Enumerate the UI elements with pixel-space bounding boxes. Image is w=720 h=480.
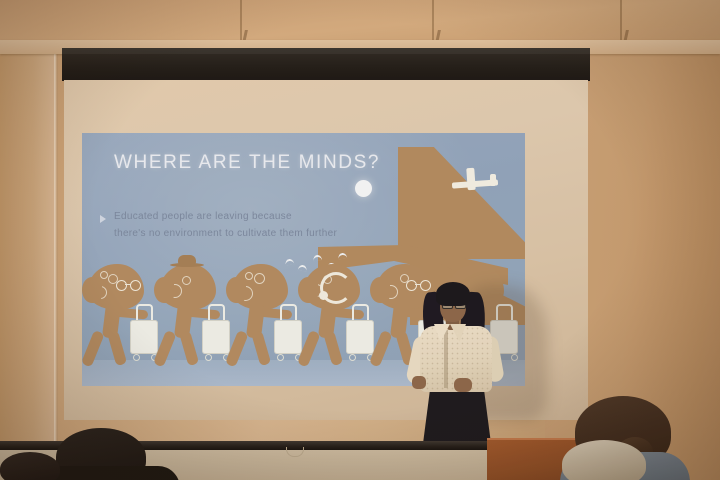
figure-leg xyxy=(323,330,343,366)
wall-corner-seam xyxy=(54,0,58,480)
valance-highlight xyxy=(62,48,590,54)
brain-detail xyxy=(254,273,265,284)
brain-figure xyxy=(304,264,380,368)
plane-wing xyxy=(466,168,476,191)
rolling-suitcase xyxy=(274,320,302,354)
lens-right xyxy=(130,280,141,291)
hat-icon xyxy=(170,255,204,268)
brain-detail xyxy=(94,286,107,299)
room-wall-left-edge xyxy=(0,0,56,480)
suitcase-wheel xyxy=(133,354,140,361)
brain-detail xyxy=(238,286,253,301)
figure-leg xyxy=(107,330,127,366)
brain-figure xyxy=(232,264,308,368)
audience-head-far-left xyxy=(0,452,60,480)
brain-figure xyxy=(160,264,236,368)
tail-body xyxy=(398,147,525,259)
rolling-suitcase xyxy=(130,320,158,354)
hat-brim xyxy=(170,263,204,267)
presenter-hand-right xyxy=(454,378,472,392)
brain-head xyxy=(232,264,288,310)
blouse-placket xyxy=(444,330,448,388)
presenter-hair-top xyxy=(436,282,470,306)
brain-detail xyxy=(100,271,108,279)
brain-figure xyxy=(88,264,164,368)
brain-detail xyxy=(168,284,182,298)
lens-left xyxy=(116,280,127,291)
figure-leg xyxy=(251,330,271,366)
suitcase-wheel xyxy=(349,354,356,361)
brain-detail xyxy=(245,272,253,280)
plane-tailfin xyxy=(490,174,496,186)
sun-icon xyxy=(355,180,372,197)
projector-screen-valance xyxy=(62,48,590,81)
figure-leg xyxy=(179,330,199,366)
headphones-icon xyxy=(320,272,352,304)
presentation-photo: WHERE ARE THE MINDS? Educated people are… xyxy=(0,0,720,480)
triangle-bullet-icon xyxy=(100,215,106,223)
presenter-hand-left xyxy=(412,376,426,389)
brain-detail xyxy=(182,276,191,285)
suitcase-wheel xyxy=(205,354,212,361)
brain-head xyxy=(160,264,216,310)
glasses-icon xyxy=(116,280,142,289)
rolling-suitcase xyxy=(346,320,374,354)
suitcase-wheel xyxy=(277,354,284,361)
airplane-icon xyxy=(450,168,500,194)
bullet-line-1: Educated people are leaving because xyxy=(114,211,292,222)
bullet-line-2: there's no environment to cultivate them… xyxy=(114,228,337,239)
slide-title: WHERE ARE THE MINDS? xyxy=(114,152,380,174)
rolling-suitcase xyxy=(202,320,230,354)
audience-head-grey xyxy=(562,440,646,480)
brain-detail xyxy=(384,285,398,299)
